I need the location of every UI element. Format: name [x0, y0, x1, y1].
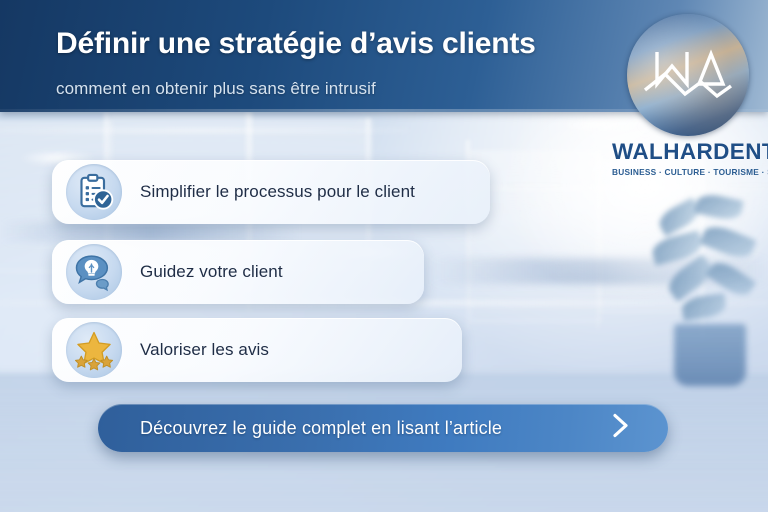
background-plant-pot [674, 324, 746, 386]
logo-disc [627, 14, 749, 136]
clipboard-check-icon [66, 164, 122, 220]
feature-card-label: Guidez votre client [140, 262, 283, 282]
logo-tagline: BUSINESS · CULTURE · TOURISME · SOCIAL [612, 167, 764, 177]
cta-button[interactable]: Découvrez le guide complet en lisant l’a… [98, 404, 668, 452]
page-title: Définir une stratégie d’avis clients [56, 27, 536, 61]
brand-logo[interactable]: WALHARDENT BUSINESS · CULTURE · TOURISME… [612, 14, 764, 174]
feature-card-label: Valoriser les avis [140, 340, 269, 360]
feature-card-guidez[interactable]: Guidez votre client [52, 240, 424, 304]
cta-button-label: Découvrez le guide complet en lisant l’a… [140, 418, 502, 439]
speech-bubble-lightbulb-icon [66, 244, 122, 300]
feature-card-label: Simplifier le processus pour le client [140, 182, 415, 202]
feature-card-valoriser[interactable]: Valoriser les avis [52, 318, 462, 382]
feature-card-simplifier[interactable]: Simplifier le processus pour le client [52, 160, 490, 224]
background-shelf-band [0, 222, 300, 242]
background-plant [652, 196, 764, 386]
page-subtitle: comment en obtenir plus sans être intrus… [56, 79, 376, 99]
chevron-right-icon[interactable] [610, 412, 632, 445]
background-beam [0, 128, 410, 133]
wa-monogram-icon [627, 14, 749, 136]
infographic-slide: Définir une stratégie d’avis clients com… [0, 0, 768, 512]
stars-icon [66, 322, 122, 378]
logo-wordmark: WALHARDENT [612, 141, 764, 164]
